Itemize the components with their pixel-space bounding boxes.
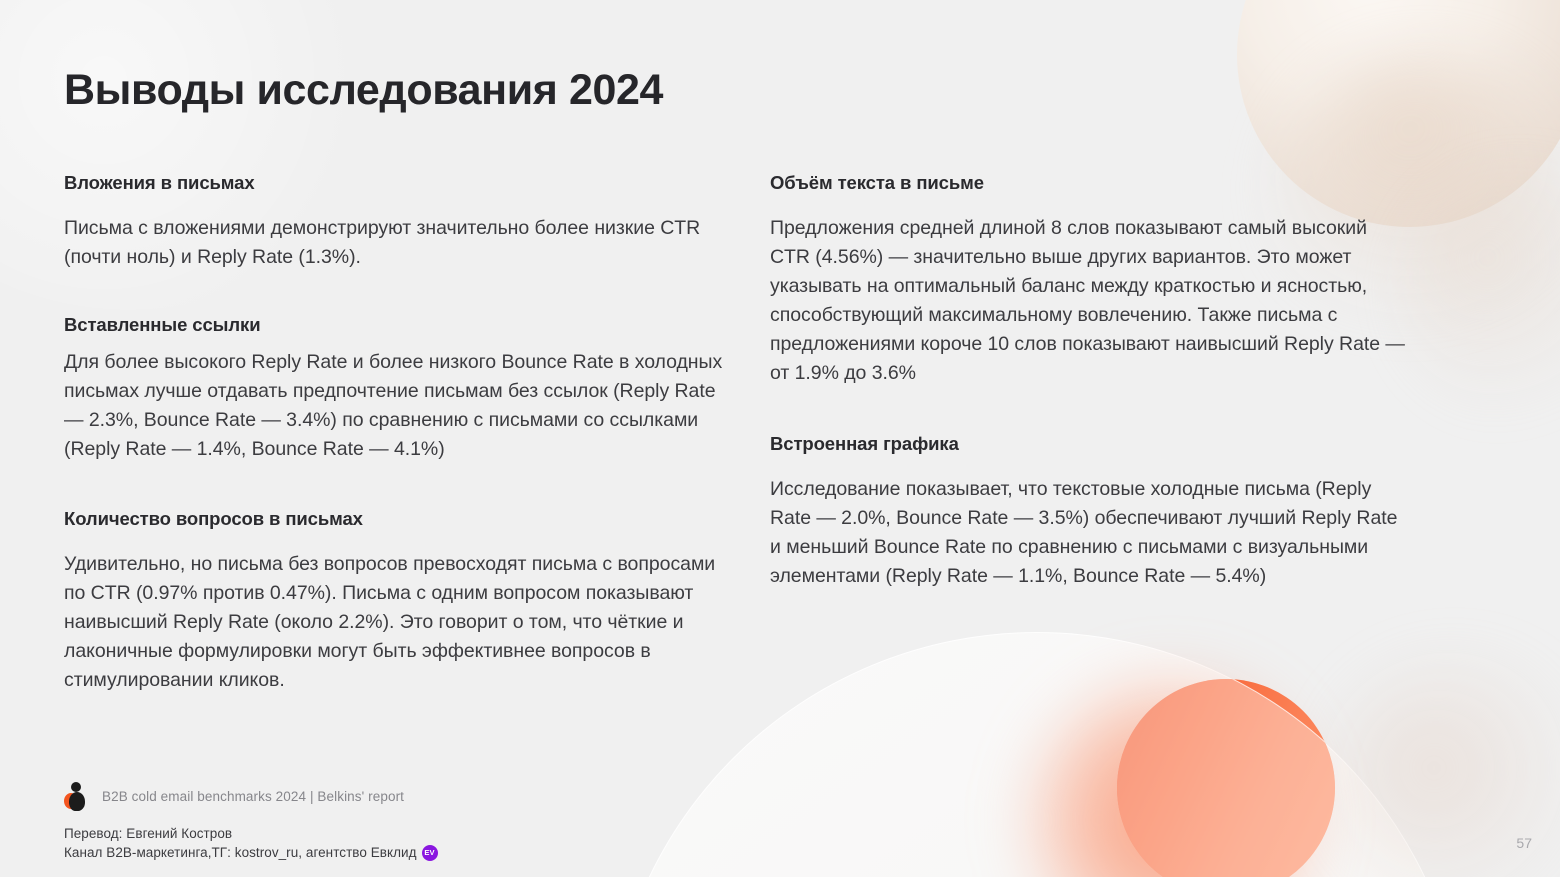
section-body-attachments: Письма с вложениями демонстрируют значит… xyxy=(64,214,736,272)
page-title: Выводы исследования 2024 xyxy=(64,66,663,115)
section-heading-question-count: Количество вопросов в письмах xyxy=(64,508,736,530)
footer: B2B cold email benchmarks 2024 | Belkins… xyxy=(64,778,764,862)
section-heading-text-volume: Объём текста в письме xyxy=(770,172,1410,194)
footer-credit-channel-row: Канал B2B-маркетинга,ТГ: kostrov_ru, аге… xyxy=(64,843,764,862)
section-question-count: Количество вопросов в письмах Удивительн… xyxy=(64,508,736,695)
section-heading-attachments: Вложения в письмах xyxy=(64,172,736,194)
section-heading-embedded-links: Вставленные ссылки xyxy=(64,314,736,336)
section-heading-embedded-graphics: Встроенная графика xyxy=(770,433,1410,455)
logo-head xyxy=(71,782,81,792)
footer-source-row: B2B cold email benchmarks 2024 | Belkins… xyxy=(64,778,764,814)
section-attachments: Вложения в письмах Письма с вложениями д… xyxy=(64,172,736,272)
footer-credit-translator: Перевод: Евгений Костров xyxy=(64,824,764,843)
right-column: Объём текста в письме Предложения средне… xyxy=(770,172,1410,591)
footer-credit: Перевод: Евгений Костров Канал B2B-марке… xyxy=(64,824,764,862)
section-body-text-volume: Предложения средней длиной 8 слов показы… xyxy=(770,214,1410,388)
section-body-embedded-links: Для более высокого Reply Rate и более ни… xyxy=(64,348,736,464)
footer-source-text: B2B cold email benchmarks 2024 | Belkins… xyxy=(102,789,404,804)
section-body-question-count: Удивительно, но письма без вопросов прев… xyxy=(64,550,736,695)
page-number: 57 xyxy=(1516,835,1532,851)
euclid-badge-icon: EV xyxy=(422,845,438,861)
section-body-embedded-graphics: Исследование показывает, что текстовые х… xyxy=(770,475,1410,591)
left-column: Вложения в письмах Письма с вложениями д… xyxy=(64,172,736,695)
belkins-person-logo-icon xyxy=(64,781,88,811)
logo-body xyxy=(70,794,83,811)
section-text-volume: Объём текста в письме Предложения средне… xyxy=(770,172,1410,388)
section-embedded-links: Вставленные ссылки Для более высокого Re… xyxy=(64,314,736,464)
slide: Выводы исследования 2024 Вложения в пись… xyxy=(0,0,1560,877)
footer-credit-channel-text: Канал B2B-маркетинга,ТГ: kostrov_ru, аге… xyxy=(64,843,417,862)
section-embedded-graphics: Встроенная графика Исследование показыва… xyxy=(770,433,1410,591)
